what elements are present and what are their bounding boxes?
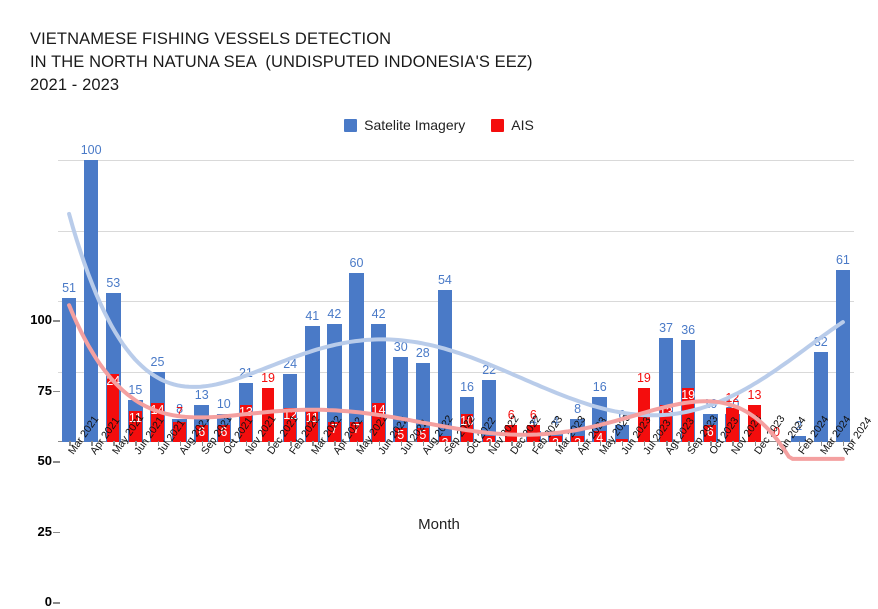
y-tick-label: 50 [0, 453, 52, 468]
legend-swatch-icon [344, 119, 357, 132]
y-tick-label: 100 [0, 312, 52, 327]
y-tick-label: 75 [0, 383, 52, 398]
chart-title-line-1: VIETNAMESE FISHING VESSELS DETECTION [30, 28, 533, 51]
legend-item-2[interactable]: AIS [491, 117, 534, 133]
chart-legend: Satelite ImageryAIS [0, 117, 878, 133]
trendline-satelite-imagery [69, 214, 843, 415]
x-axis-labels: Mar 2021Apr 2021May 2021Jun 2021Jul 2021… [58, 446, 854, 508]
legend-label: Satelite Imagery [364, 117, 465, 133]
trendlines [58, 160, 854, 442]
legend-label: AIS [511, 117, 534, 133]
chart-title-line-3: 2021 - 2023 [30, 74, 533, 97]
plot-area: 5110053241511251487136106211319241241114… [58, 160, 854, 442]
y-tick-mark [53, 602, 60, 604]
trendline-ais [69, 305, 843, 459]
chart-title-line-2: IN THE NORTH NATUNA SEA (UNDISPUTED INDO… [30, 51, 533, 74]
bar-label-satelite-imagery: 100 [80, 143, 102, 157]
y-tick-label: 0 [0, 594, 52, 609]
legend-swatch-icon [491, 119, 504, 132]
x-axis-title: Month [0, 516, 878, 533]
chart-title: VIETNAMESE FISHING VESSELS DETECTIONIN T… [30, 28, 533, 97]
legend-item-1[interactable]: Satelite Imagery [344, 117, 465, 133]
